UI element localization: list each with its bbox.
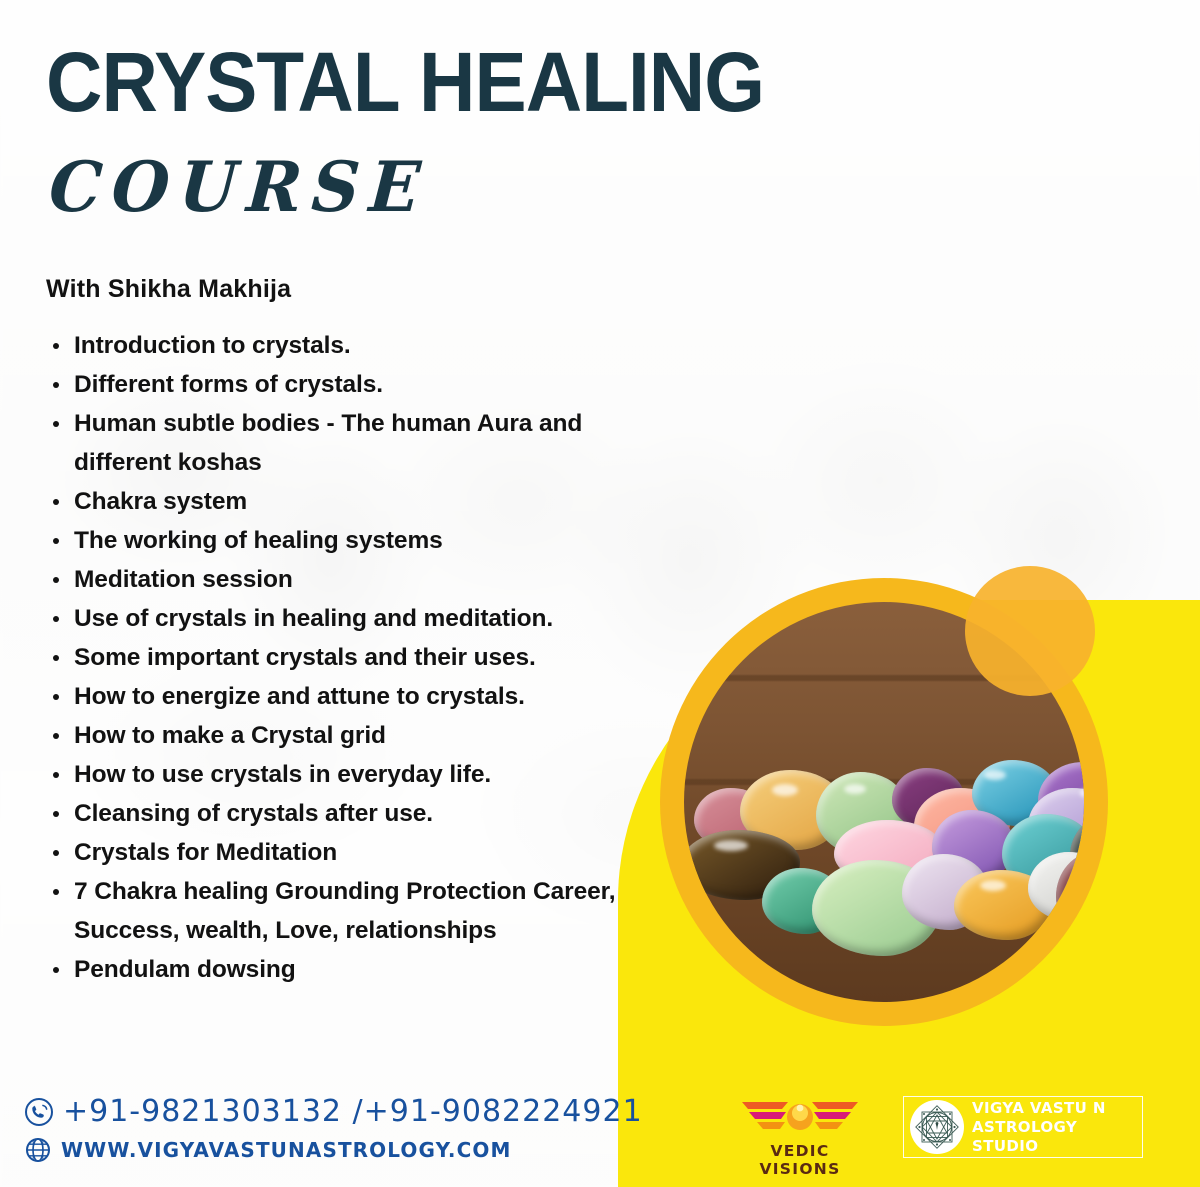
list-item: The working of healing systems — [46, 521, 658, 560]
vigya-line-1: VIGYA VASTU N — [972, 1099, 1136, 1118]
website-url: WWW.VIGYAVASTUNASTROLOGY.COM — [61, 1138, 511, 1162]
list-item: Cleansing of crystals after use. — [46, 794, 658, 833]
yantra-mandala-icon — [910, 1100, 964, 1154]
phone-number: +91-9821303132 /+91-9082224921 — [63, 1094, 643, 1129]
list-item: Pendulam dowsing — [46, 950, 658, 989]
amber-accent-circle — [965, 566, 1095, 696]
vigya-vastu-logo: VIGYA VASTU N ASTROLOGY STUDIO — [903, 1096, 1143, 1158]
page-subtitle: COURSE — [47, 152, 432, 221]
vedic-visions-label: VEDIC VISIONS — [730, 1142, 870, 1178]
website-row[interactable]: WWW.VIGYAVASTUNASTROLOGY.COM — [24, 1136, 643, 1164]
list-item: Some important crystals and their uses. — [46, 638, 658, 677]
presenter-name: With Shikha Makhija — [46, 275, 291, 304]
list-item: Introduction to crystals. — [46, 326, 658, 365]
list-item: 7 Chakra healing Grounding Protection Ca… — [46, 872, 658, 950]
phone-in-circle-icon — [24, 1097, 54, 1127]
vedic-visions-logo: VEDIC VISIONS — [730, 1096, 870, 1178]
list-item: Different forms of crystals. — [46, 365, 658, 404]
list-item: Meditation session — [46, 560, 658, 599]
vigya-vastu-label: VIGYA VASTU N ASTROLOGY STUDIO — [972, 1099, 1136, 1156]
list-item: How to use crystals in everyday life. — [46, 755, 658, 794]
list-item: Crystals for Meditation — [46, 833, 658, 872]
list-item: Chakra system — [46, 482, 658, 521]
poster-canvas: CRYSTAL HEALING COURSE With Shikha Makhi… — [0, 0, 1200, 1187]
winged-sun-emblem-icon — [738, 1096, 862, 1140]
list-item: How to energize and attune to crystals. — [46, 677, 658, 716]
phone-row[interactable]: +91-9821303132 /+91-9082224921 — [24, 1094, 643, 1129]
page-title: CRYSTAL HEALING — [46, 40, 764, 124]
contact-block: +91-9821303132 /+91-9082224921 WWW.VIGYA… — [24, 1094, 643, 1164]
topics-list: Introduction to crystals. Different form… — [46, 326, 658, 989]
list-item: Use of crystals in healing and meditatio… — [46, 599, 658, 638]
list-item: How to make a Crystal grid — [46, 716, 658, 755]
list-item: Human subtle bodies - The human Aura and… — [46, 404, 658, 482]
vigya-line-2: ASTROLOGY STUDIO — [972, 1118, 1136, 1156]
globe-icon — [24, 1136, 52, 1164]
